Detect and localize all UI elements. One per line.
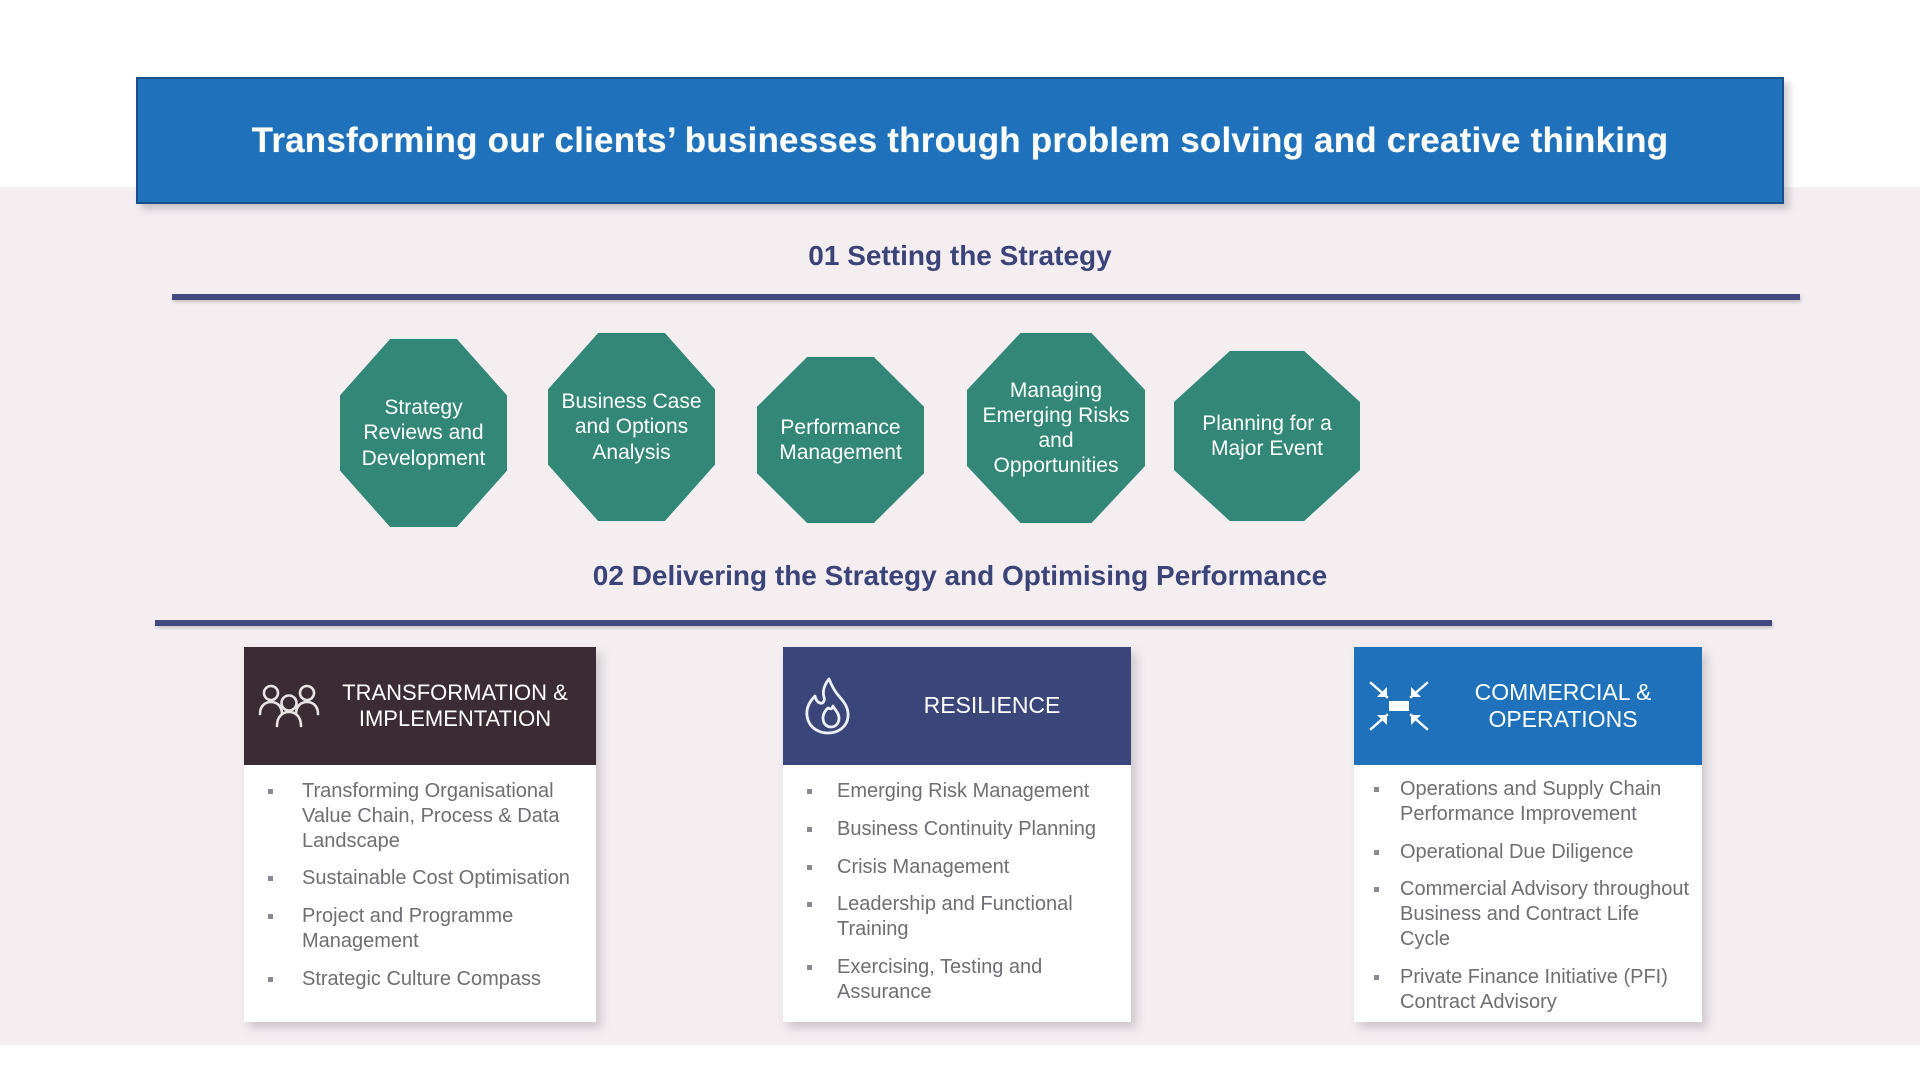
list-item: Business Continuity Planning: [793, 817, 1115, 842]
card-body: Emerging Risk Management Business Contin…: [783, 765, 1131, 1015]
card-transformation-implementation[interactable]: TRANSFORMATION & IMPLEMENTATION Transfor…: [244, 647, 596, 1022]
section-heading-02: 02 Delivering the Strategy and Optimisin…: [0, 560, 1920, 592]
list-item: Commercial Advisory throughout Business …: [1362, 877, 1690, 951]
octagon-managing-emerging-risks[interactable]: Managing Emerging Risks and Opportunitie…: [967, 333, 1145, 523]
card-title: RESILIENCE: [865, 692, 1125, 719]
bullet-list: Transforming Organisational Value Chain,…: [254, 779, 580, 992]
card-title: COMMERCIAL & OPERATIONS: [1436, 679, 1696, 733]
list-item: Strategic Culture Compass: [254, 967, 580, 992]
list-item: Leadership and Functional Training: [793, 892, 1115, 942]
octagon-label: Planning for a Major Event: [1178, 411, 1356, 461]
octagon-strategy-reviews[interactable]: Strategy Reviews and Development: [340, 339, 507, 527]
section-heading-01: 01 Setting the Strategy: [0, 240, 1920, 272]
octagon-label: Performance Management: [761, 415, 920, 465]
bullet-list: Emerging Risk Management Business Contin…: [793, 779, 1115, 1005]
list-item: Operations and Supply Chain Performance …: [1362, 777, 1690, 827]
card-resilience[interactable]: RESILIENCE Emerging Risk Management Busi…: [783, 647, 1131, 1022]
card-header: RESILIENCE: [783, 647, 1131, 765]
card-header: COMMERCIAL & OPERATIONS: [1354, 647, 1702, 765]
list-item: Operational Due Diligence: [1362, 840, 1690, 865]
list-item: Emerging Risk Management: [793, 779, 1115, 804]
card-title: TRANSFORMATION & IMPLEMENTATION: [326, 680, 590, 732]
list-item: Project and Programme Management: [254, 904, 580, 954]
list-item: Private Finance Initiative (PFI) Contrac…: [1362, 965, 1690, 1015]
octagon-row: Strategy Reviews and Development Busines…: [340, 333, 1570, 533]
page-title: Transforming our clients’ businesses thr…: [222, 121, 1699, 161]
list-item: Transforming Organisational Value Chain,…: [254, 779, 580, 853]
card-commercial-operations[interactable]: COMMERCIAL & OPERATIONS Operations and S…: [1354, 647, 1702, 1022]
list-item: Exercising, Testing and Assurance: [793, 955, 1115, 1005]
list-item: Crisis Management: [793, 855, 1115, 880]
flame-icon: [795, 673, 861, 739]
card-header: TRANSFORMATION & IMPLEMENTATION: [244, 647, 596, 765]
list-item: Sustainable Cost Optimisation: [254, 866, 580, 891]
bullet-list: Operations and Supply Chain Performance …: [1362, 777, 1690, 1014]
title-banner: Transforming our clients’ businesses thr…: [136, 77, 1784, 204]
section-divider-01: [172, 294, 1800, 300]
section-divider-02: [155, 620, 1772, 626]
card-body: Operations and Supply Chain Performance …: [1354, 765, 1702, 1024]
octagon-label: Strategy Reviews and Development: [344, 395, 503, 471]
octagon-label: Managing Emerging Risks and Opportunitie…: [971, 378, 1141, 479]
octagon-performance-management[interactable]: Performance Management: [757, 357, 924, 523]
bottom-white-strip: [0, 1045, 1920, 1080]
card-body: Transforming Organisational Value Chain,…: [244, 765, 596, 1002]
octagon-label: Business Case and Options Analysis: [552, 389, 711, 465]
converge-arrows-icon: [1366, 673, 1432, 739]
octagon-business-case[interactable]: Business Case and Options Analysis: [548, 333, 715, 521]
people-group-icon: [256, 673, 322, 739]
octagon-planning-major-event[interactable]: Planning for a Major Event: [1174, 351, 1360, 521]
slide-canvas: Transforming our clients’ businesses thr…: [0, 0, 1920, 1080]
